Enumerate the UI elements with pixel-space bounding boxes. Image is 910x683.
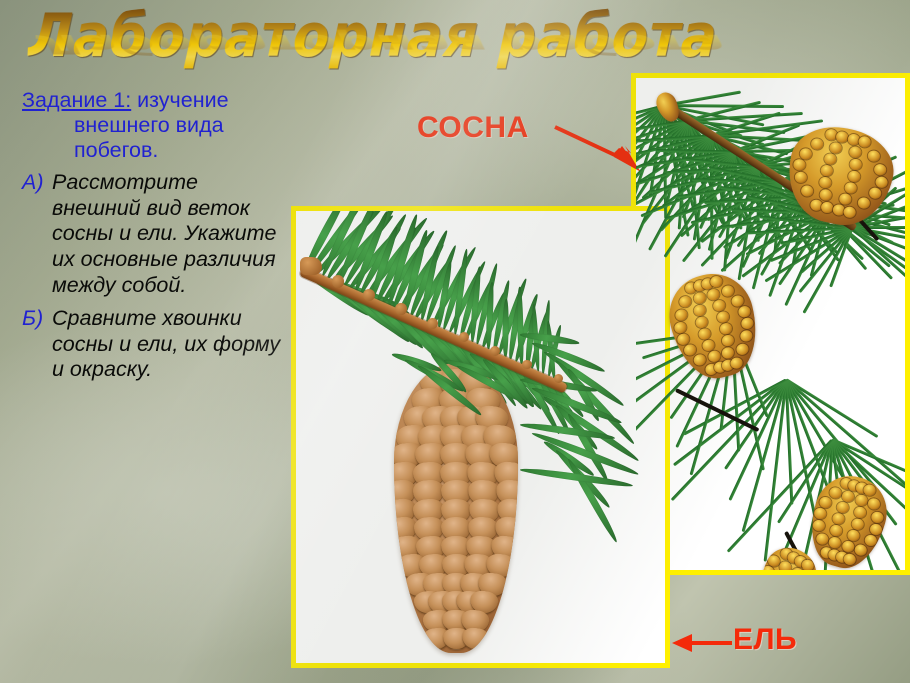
pine-cone-scale — [857, 197, 871, 210]
pine-cone-scale — [793, 158, 807, 171]
spruce-branch-stub — [300, 257, 322, 275]
pine-cone-scale — [693, 304, 707, 318]
pine-cone-scale — [679, 295, 693, 309]
pine-cone-scale — [870, 510, 885, 524]
pine-cone-scale — [710, 275, 724, 289]
task-item-b-marker: Б) — [22, 306, 52, 383]
task-item-a-text: Рассмотрите внешний вид веток сосны и ел… — [52, 170, 284, 299]
task-item-a-marker: А) — [22, 170, 52, 299]
pine-cone-scale — [730, 356, 744, 370]
spruce-label: ЕЛЬ — [733, 623, 797, 657]
pine-cone-scale — [801, 572, 817, 575]
task-heading: Задание 1: изучение внешнего вида побего… — [22, 88, 284, 163]
pine-cone-scale — [739, 329, 753, 343]
pine-cone-scale — [812, 519, 827, 533]
pine-cone-scale — [772, 570, 788, 575]
spruce-branch-node — [522, 360, 532, 370]
pine-label: СОСНА — [417, 111, 529, 145]
pine-illustration — [636, 78, 905, 570]
task-item-a: А) Рассмотрите внешний вид веток сосны и… — [22, 170, 284, 299]
pine-cone-scale — [720, 334, 734, 348]
pine-cone-scale — [832, 512, 847, 526]
task-text-block: Задание 1: изучение внешнего вида побего… — [22, 88, 284, 383]
pine-cone-scale — [720, 284, 734, 298]
pine-cone-scale — [820, 164, 834, 177]
pine-cone-scale — [842, 206, 856, 219]
pine-cone-scale — [829, 524, 844, 538]
pine-cone-scale — [815, 532, 830, 546]
pine-cone-scale — [867, 497, 882, 511]
pine-cone-scale — [740, 317, 754, 331]
pine-cone-scale — [695, 316, 709, 330]
spruce-branch-node — [332, 275, 345, 288]
spruce-arrow-icon — [672, 632, 732, 654]
pine-cone-scale — [869, 187, 883, 200]
pine-cone-scale — [719, 322, 733, 336]
pine-cone-scale — [867, 150, 881, 163]
pine-cone-scale — [737, 305, 751, 319]
spruce-branch-node — [427, 318, 438, 329]
pine-cone-scale — [813, 507, 828, 521]
pine-cone-scale — [692, 291, 706, 305]
spruce-illustration — [296, 211, 665, 663]
task-heading-label: Задание 1: — [22, 88, 131, 112]
spruce-image-frame[interactable] — [291, 206, 670, 668]
pine-arrow-icon — [553, 124, 641, 172]
pine-cone-scale — [854, 543, 869, 557]
slide-canvas: Лабораторная работа Лабораторная работа … — [0, 0, 910, 683]
pine-cone-scale — [793, 171, 807, 184]
pine-cone-scale — [810, 137, 824, 150]
pine-cone-scale — [857, 135, 871, 148]
pine-cone-scale — [823, 153, 837, 166]
pine-cone-scale — [854, 493, 869, 507]
title-reflection: Лабораторная работа — [35, 29, 728, 60]
spruce-cone — [394, 363, 518, 653]
pine-cone-scale — [818, 176, 832, 189]
pine-cone-scale — [716, 310, 730, 324]
spruce-branch-node — [554, 374, 563, 383]
spruce-cone-scale — [460, 626, 490, 652]
pine-cone-scale — [848, 145, 862, 158]
task-item-b-text: Сравните хвоинки сосны и ели, их форму и… — [52, 306, 284, 383]
spruce-needle — [566, 457, 620, 544]
slide-title: Лабораторная работа Лабораторная работа — [30, 2, 730, 74]
task-item-b: Б) Сравните хвоинки сосны и ели, их форм… — [22, 306, 284, 383]
pine-cone-scale — [863, 533, 878, 547]
pine-cone-scale — [874, 163, 888, 176]
pine-cone-scale — [847, 170, 861, 183]
spruce-branch-node — [395, 303, 407, 315]
pine-cone-scale — [800, 184, 814, 197]
pine-cone-scale — [693, 353, 707, 367]
pine-cone-scale — [819, 188, 833, 201]
pine-image-frame[interactable] — [631, 73, 910, 575]
pine-cone-scale — [673, 321, 687, 335]
pine-cone-scale — [849, 158, 863, 171]
pine-cone-scale — [853, 505, 868, 519]
pine-cone-scale — [674, 308, 688, 322]
pine-cone-scale — [735, 343, 749, 357]
pine-cone-scale — [828, 486, 843, 500]
spruce-needle — [502, 299, 509, 358]
